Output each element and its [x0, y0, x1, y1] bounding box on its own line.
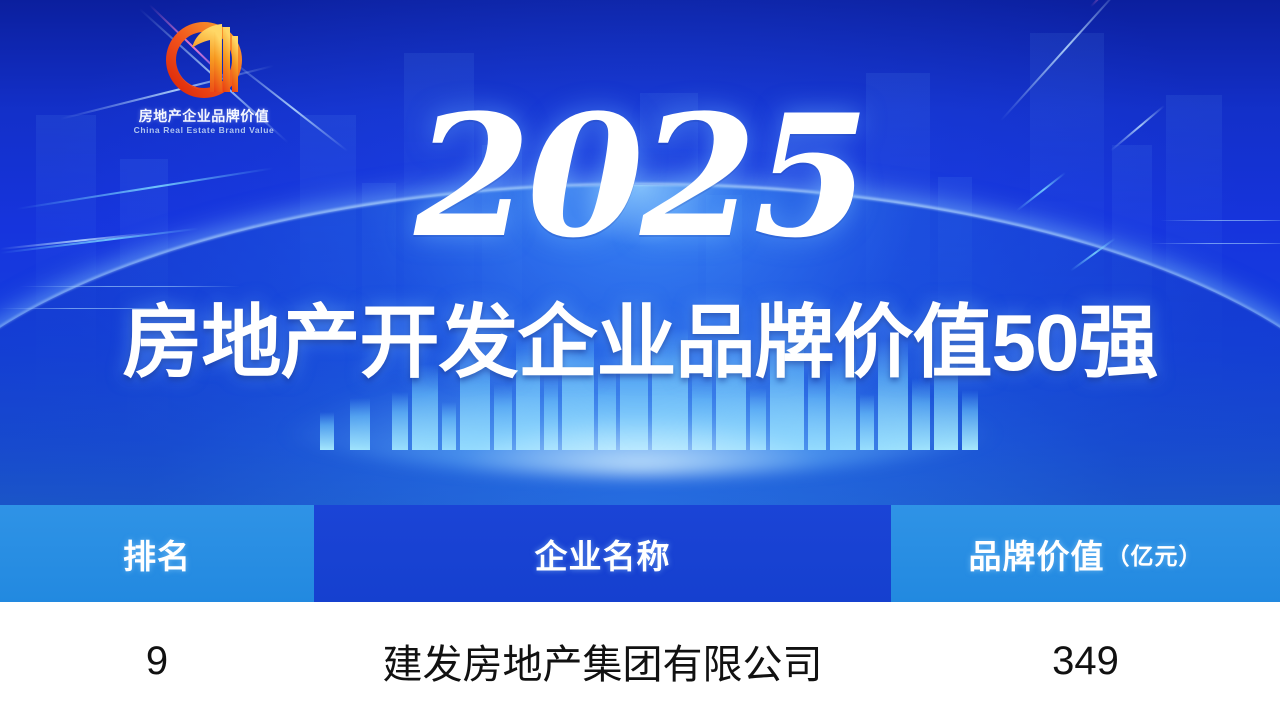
column-header-brand-value-label: 品牌价值	[969, 530, 1105, 578]
column-header-rank: 排名	[0, 505, 314, 602]
column-header-company: 企业名称	[314, 505, 891, 602]
brand-value-ranking-banner: 房地产企业品牌价值 China Real Estate Brand Value …	[0, 0, 1280, 720]
page-title: 房地产开发企业品牌价值50强	[0, 300, 1280, 386]
cell-brand-value: 349	[891, 602, 1280, 720]
hero-banner: 房地产企业品牌价值 China Real Estate Brand Value …	[0, 0, 1280, 505]
brand-emblem-icon	[162, 18, 246, 102]
column-header-brand-value-unit: （亿元）	[1107, 537, 1203, 571]
year-title: 2025	[0, 92, 1280, 260]
table-header-row: 排名 企业名称 品牌价值 （亿元）	[0, 505, 1280, 602]
table-row: 9 建发房地产集团有限公司 349	[0, 602, 1280, 720]
cell-rank: 9	[0, 602, 314, 720]
cell-company-name: 建发房地产集团有限公司	[314, 602, 891, 720]
column-header-brand-value: 品牌价值 （亿元）	[891, 505, 1280, 602]
